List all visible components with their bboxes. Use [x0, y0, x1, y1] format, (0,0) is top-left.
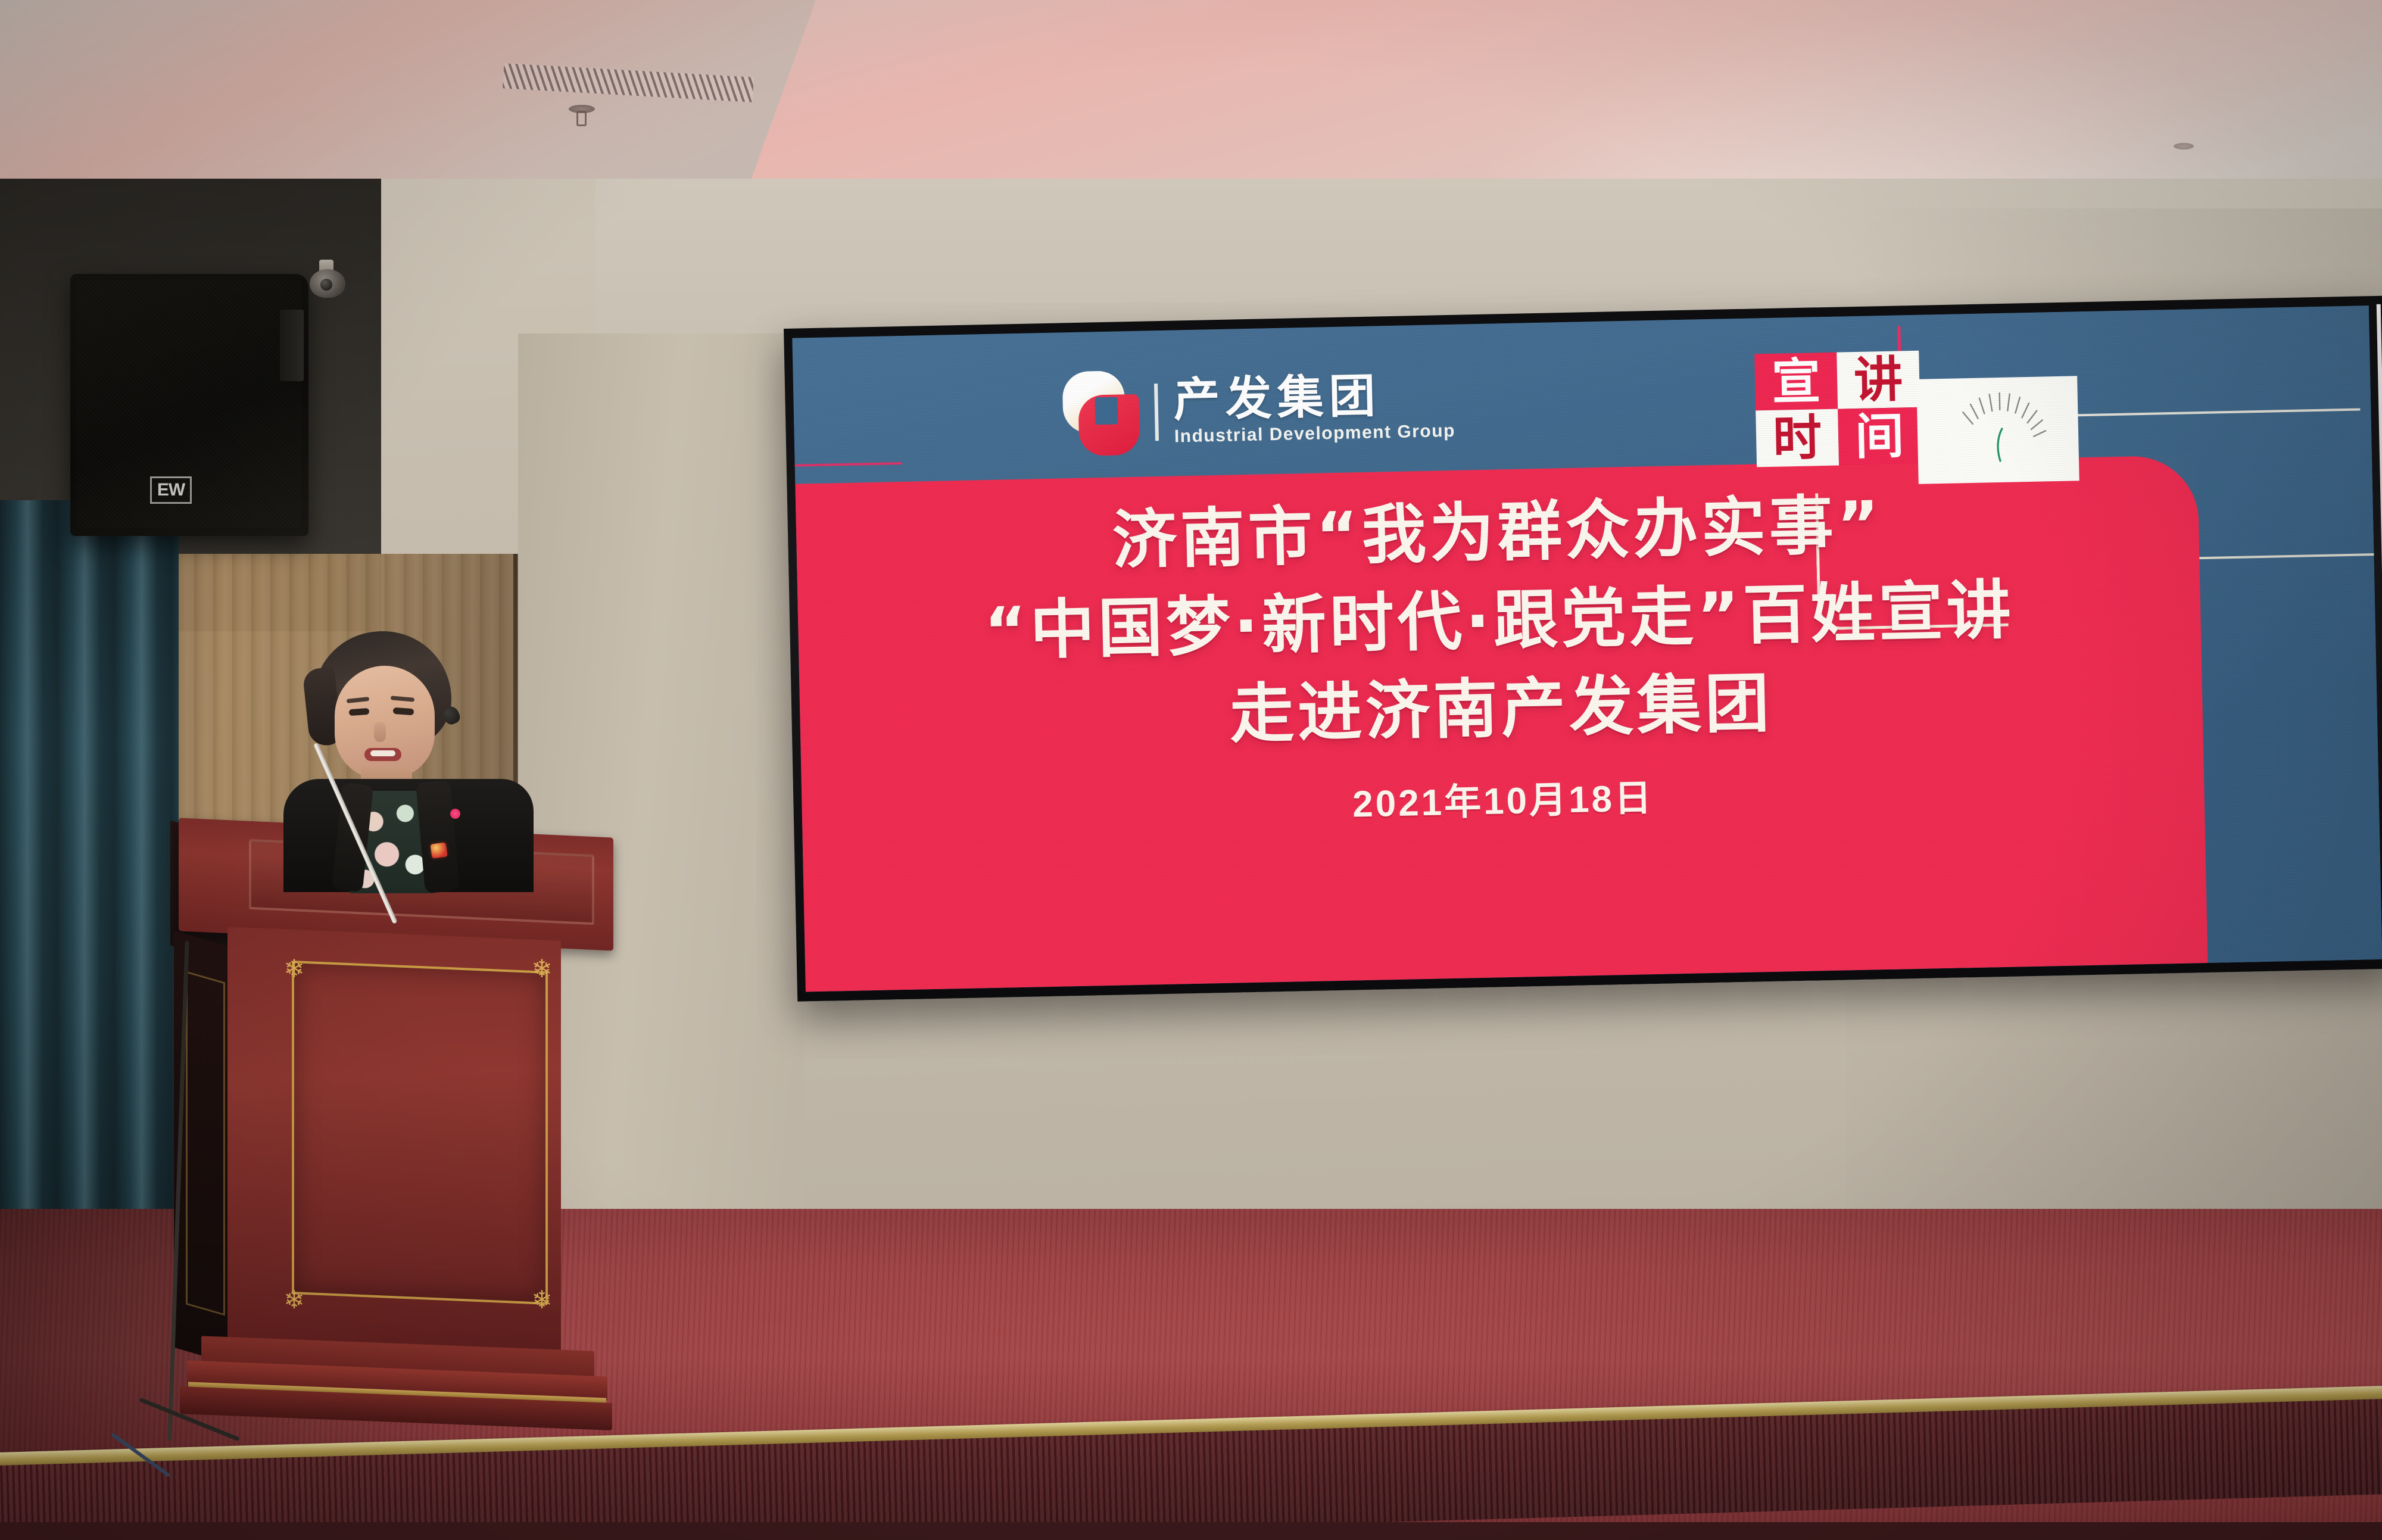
fire-sprinkler-body: [576, 111, 587, 126]
lectern-corner-ornament-tr: ❄: [524, 956, 560, 978]
badge-char-3: 时: [1756, 409, 1839, 467]
slide-date: 2021年10月18日: [1352, 768, 1654, 827]
speaker-nose: [374, 722, 386, 742]
speaker-face: [335, 666, 435, 779]
speaking-lectern: ❄ ❄ ❄ ❄: [179, 828, 649, 1477]
speaker-brand-badge: EW: [150, 476, 192, 504]
logo-text-block: 产发集团 Industrial Development Group: [1173, 371, 1455, 447]
led-display-wall: 产发集团 Industrial Development Group 宣 讲 时 …: [784, 296, 2382, 1002]
badge-char-2: 讲: [1837, 351, 1920, 409]
slide-title-line-2: “中国梦·新时代·跟党走”百姓宣讲: [984, 571, 2015, 671]
badge-char-4: 间: [1838, 407, 1921, 466]
logo-divider: [1154, 384, 1159, 441]
speaker-eye-left: [349, 708, 370, 716]
floor-strip: [0, 1522, 2382, 1540]
speaker-eye-right: [393, 707, 414, 715]
lectern-corner-ornament-br: ❄: [524, 1287, 560, 1309]
presentation-slide: 产发集团 Industrial Development Group 宣 讲 时 …: [792, 305, 2382, 992]
chanfa-group-logo-mark: [1062, 370, 1140, 457]
badge-char-1: 宣: [1754, 353, 1838, 411]
slide-title-line-3: 走进济南产发集团: [1229, 664, 1774, 754]
slide-title-line-1: 济南市“我为群众办实事”: [1112, 486, 1884, 580]
conference-hall-photo: EW: [0, 0, 2382, 1540]
lectern-corner-ornament-bl: ❄: [276, 1287, 312, 1309]
speaker-mount-bracket: [280, 310, 304, 381]
stage-curtain: [0, 500, 179, 1298]
seedling-leaf-icon: [1994, 428, 2007, 462]
xuanjiang-shijian-badge: 宣 讲 时 间: [1754, 351, 1921, 467]
fire-sprinkler-icon-2: [2174, 143, 2194, 149]
company-logo: 产发集团 Industrial Development Group: [1062, 364, 1456, 457]
logo-mark-notch: [1095, 397, 1118, 425]
party-emblem-pin-icon: [430, 842, 447, 858]
camera-lens-icon: [320, 279, 332, 291]
lectern-left-column-frame: [186, 971, 225, 1316]
lectern-corner-ornament-tl: ❄: [276, 956, 312, 978]
slide-headline-block: 济南市“我为群众办实事” “中国梦·新时代·跟党走”百姓宣讲 走进济南产发集团 …: [796, 479, 2205, 839]
speaker-collar-accent: [450, 809, 460, 819]
lectern-front-gold-frame: [292, 961, 548, 1305]
logo-chinese-name: 产发集团: [1173, 371, 1455, 424]
speaker-teeth: [370, 750, 395, 756]
sunburst-seedling-card: [1916, 376, 2079, 484]
